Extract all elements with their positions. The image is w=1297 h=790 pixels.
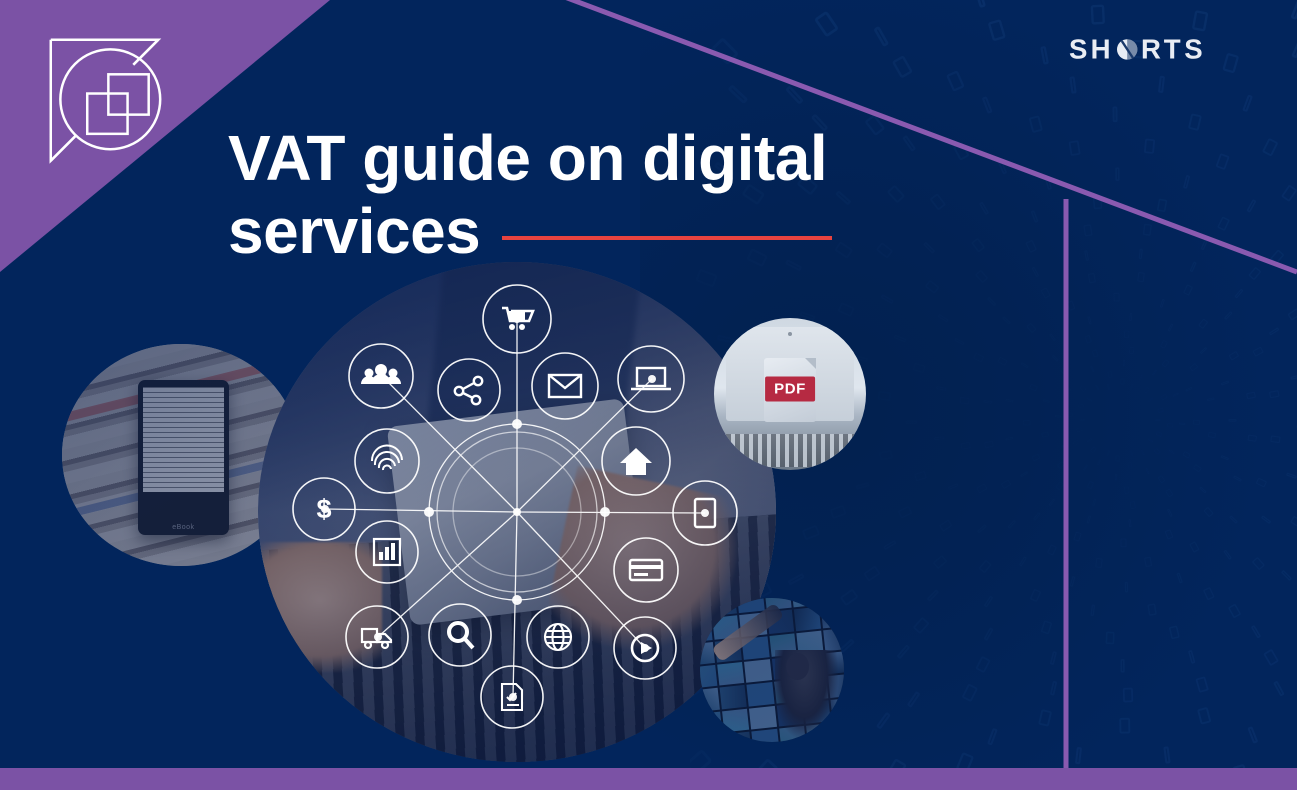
envelope-icon [532,353,598,419]
purple-bottom-bar [0,768,1297,790]
shorts-logo-mark [44,34,190,178]
title-underline-rule [502,236,832,240]
pdf-photo-base: PDF [714,318,866,470]
title-line-1: VAT guide on digital [228,122,827,194]
shorts-wordmark: S H R T S [1069,30,1249,70]
icon-network-overlay: $ [258,262,776,762]
svg-text:S: S [1184,33,1204,64]
svg-text:$: $ [316,494,331,524]
pdf-badge: PDF [765,377,815,402]
shorts-o-glyph [1117,39,1137,59]
fingerprint-icon [355,429,419,493]
svg-text:H: H [1091,33,1113,64]
title-line-2: services [228,195,480,268]
magnifier-icon [429,604,491,666]
page-title: VAT guide on digital services [228,122,948,268]
svg-text:S: S [1069,33,1089,64]
photo-hero-icon-network: $ [258,262,776,762]
svg-text:T: T [1164,33,1183,64]
share-network-icon [438,359,500,421]
video-navy-tint [700,598,844,742]
svg-text:R: R [1141,33,1163,64]
cover-slide: S H R T S VAT guide on digital services [0,0,1297,790]
photo-pdf-on-laptop: PDF [714,318,866,470]
credit-card-icon [614,538,678,602]
photo-video-wall [700,598,844,742]
